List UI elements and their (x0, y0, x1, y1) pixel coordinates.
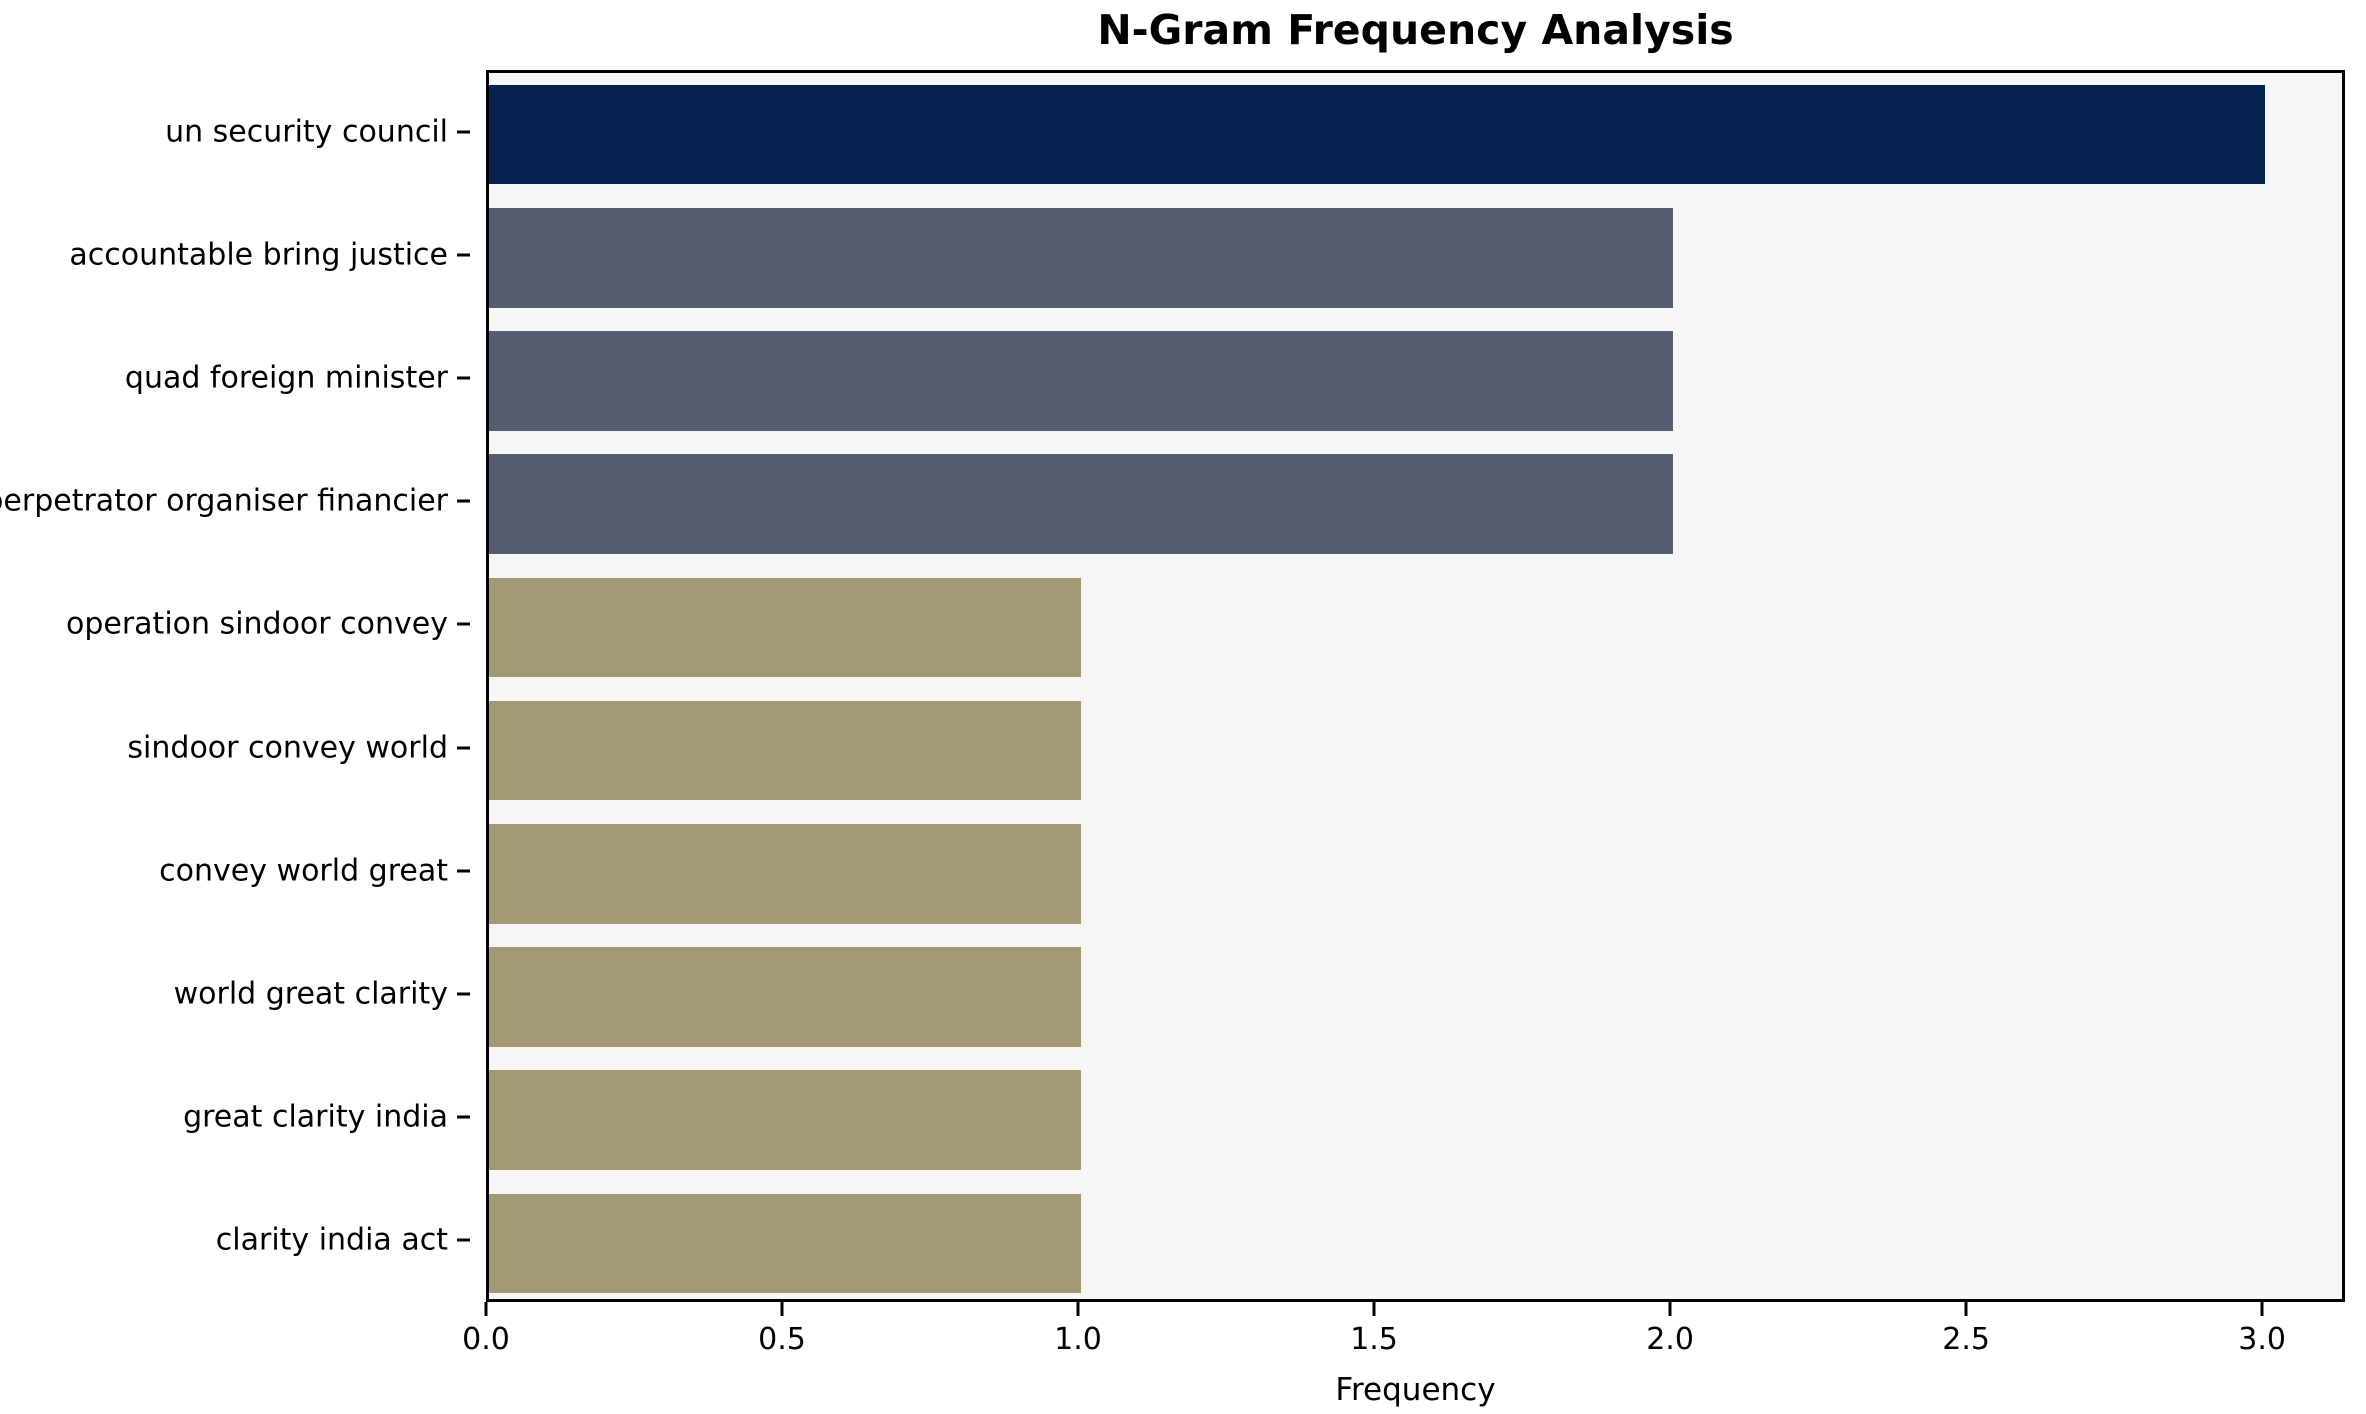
x-tick-mark (1965, 1302, 1968, 1316)
x-tick-mark (1669, 1302, 1672, 1316)
y-tick-mark (457, 377, 470, 380)
x-tick-mark (1077, 1302, 1080, 1316)
y-tick-mark (457, 253, 470, 256)
x-tick-label: 1.5 (1350, 1322, 1398, 1357)
bar (489, 1194, 1081, 1294)
bar (489, 1070, 1081, 1170)
x-axis: Frequency 0.00.51.01.52.02.53.0 (486, 1302, 2345, 1412)
bars-layer (489, 73, 2342, 1299)
y-tick-mark (457, 1116, 470, 1119)
y-tick-mark (457, 500, 470, 503)
y-tick-label: accountable bring justice (69, 237, 448, 272)
x-tick-label: 3.0 (2238, 1322, 2286, 1357)
y-tick-label: operation sindoor convey (66, 607, 448, 642)
bar (489, 824, 1081, 924)
bar (489, 947, 1081, 1047)
bar (489, 331, 1673, 431)
x-tick-mark (781, 1302, 784, 1316)
y-tick-mark (457, 869, 470, 872)
y-tick-mark (457, 1239, 470, 1242)
x-tick-label: 0.0 (462, 1322, 510, 1357)
x-tick-mark (2261, 1302, 2264, 1316)
bar (489, 454, 1673, 554)
bar (489, 701, 1081, 801)
y-axis: un security councilaccountable bring jus… (0, 70, 470, 1302)
x-tick-label: 0.5 (758, 1322, 806, 1357)
y-tick-mark (457, 993, 470, 996)
y-tick-label: clarity india act (216, 1223, 448, 1258)
bar (489, 85, 2265, 185)
x-tick-mark (485, 1302, 488, 1316)
x-axis-title: Frequency (486, 1372, 2345, 1408)
x-tick-mark (1373, 1302, 1376, 1316)
y-tick-label: convey world great (159, 853, 448, 888)
bar (489, 578, 1081, 678)
chart-title: N-Gram Frequency Analysis (486, 2, 2345, 58)
bar (489, 208, 1673, 308)
y-tick-label: perpetrator organiser financier (0, 484, 448, 519)
y-tick-mark (457, 623, 470, 626)
y-tick-mark (457, 746, 470, 749)
y-tick-label: un security council (165, 114, 448, 149)
y-tick-label: quad foreign minister (125, 361, 448, 396)
plot-area (486, 70, 2345, 1302)
chart-figure: N-Gram Frequency Analysis un security co… (0, 0, 2366, 1414)
y-tick-label: great clarity india (183, 1100, 448, 1135)
y-tick-label: world great clarity (174, 977, 448, 1012)
x-tick-label: 2.0 (1646, 1322, 1694, 1357)
x-tick-label: 2.5 (1942, 1322, 1990, 1357)
y-tick-label: sindoor convey world (127, 730, 448, 765)
y-tick-mark (457, 130, 470, 133)
x-tick-label: 1.0 (1054, 1322, 1102, 1357)
